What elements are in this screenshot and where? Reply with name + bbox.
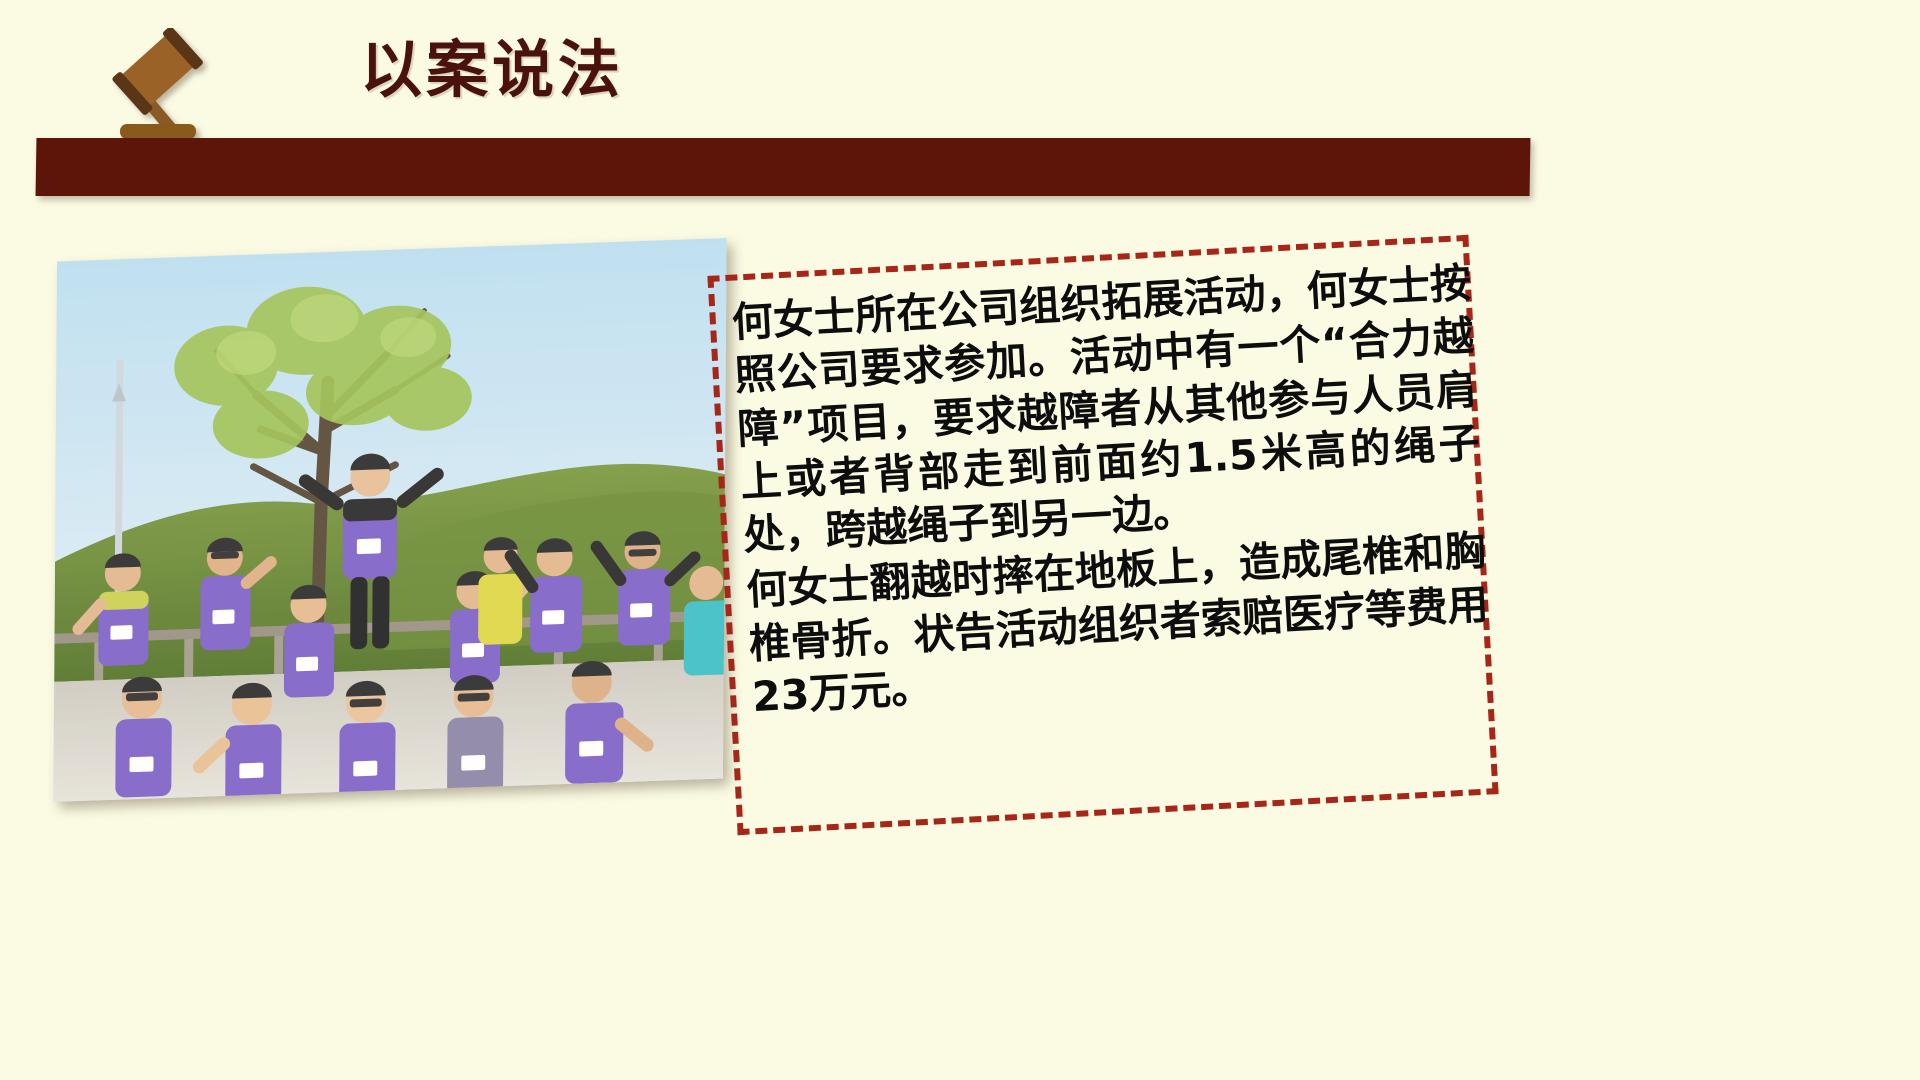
header-accent-bar	[36, 138, 1531, 196]
case-photo-image	[53, 238, 726, 802]
slide-root: 以案说法	[0, 0, 1920, 1080]
case-description-text: 何女士所在公司组织拓展活动，何女士按照公司要求参加。活动中有一个“合力越障”项目…	[731, 257, 1493, 725]
case-photo	[53, 238, 726, 802]
case-description-box: 何女士所在公司组织拓展活动，何女士按照公司要求参加。活动中有一个“合力越障”项目…	[707, 235, 1498, 835]
case-paragraph-1: 何女士所在公司组织拓展活动，何女士按照公司要求参加。活动中有一个“合力越障”项目…	[731, 257, 1484, 563]
slide-header: 以案说法	[0, 0, 1920, 250]
page-title: 以案说法	[360, 36, 624, 104]
